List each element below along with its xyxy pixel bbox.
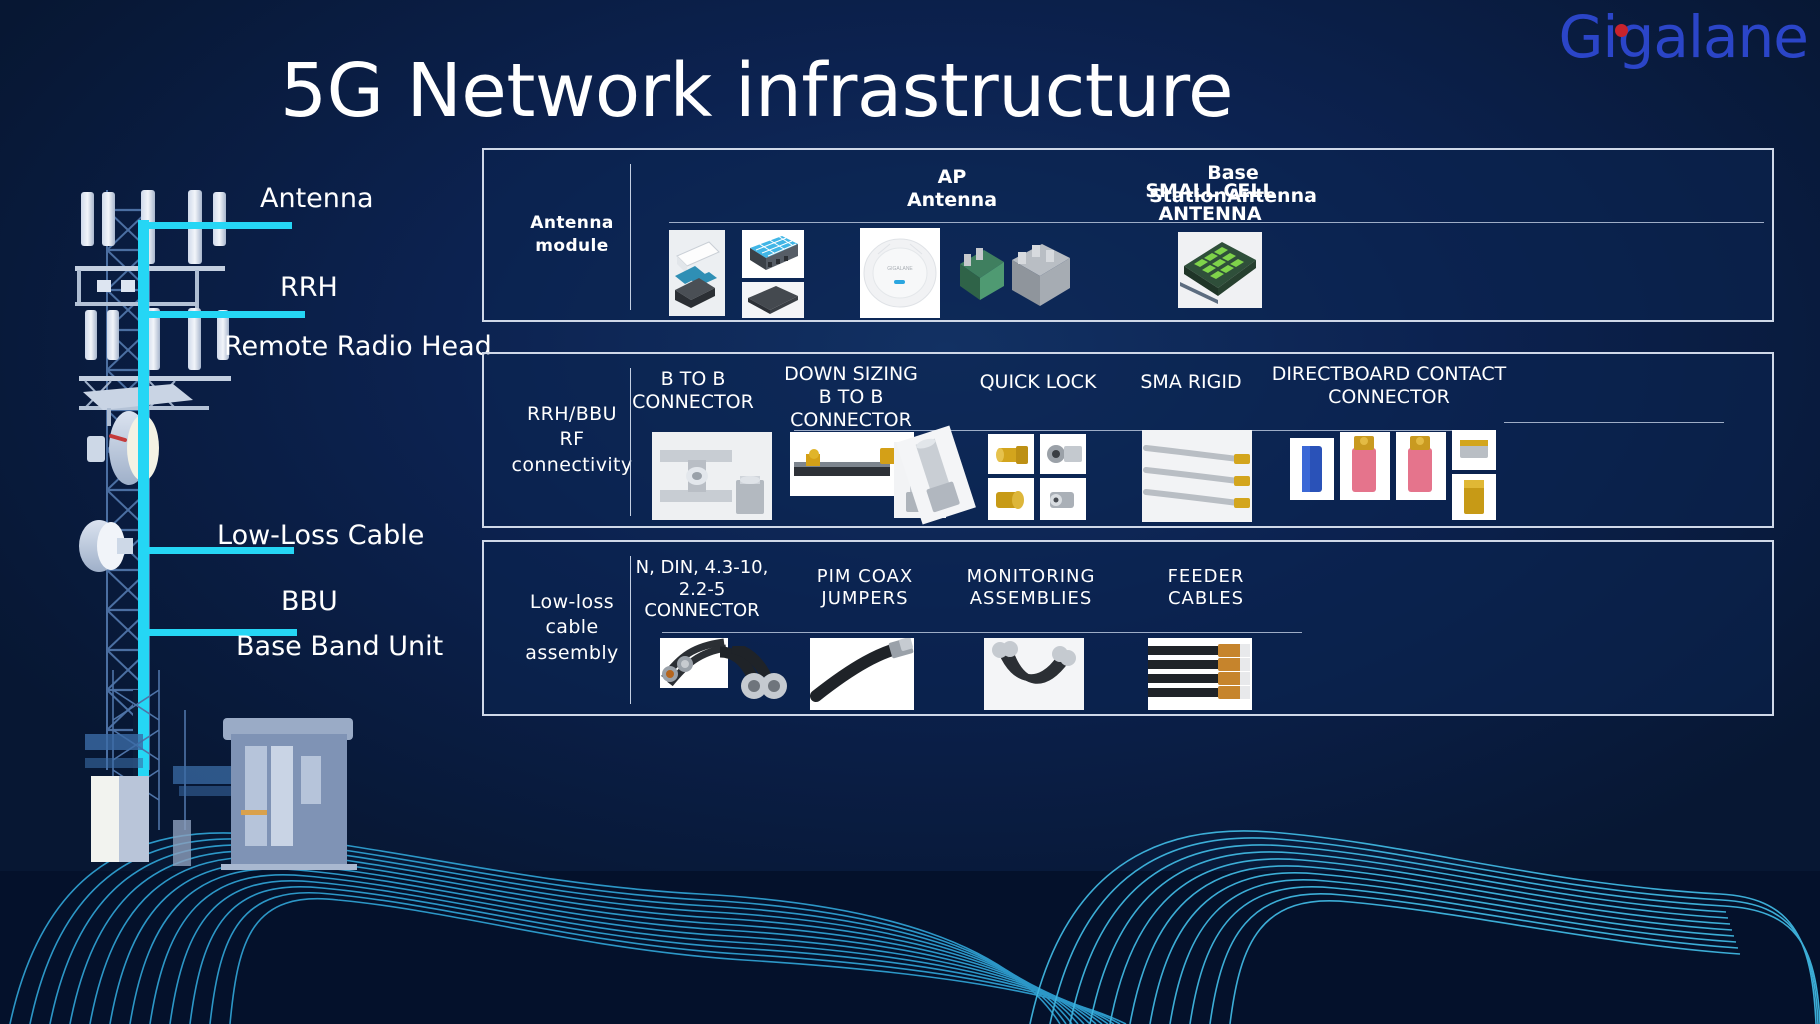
column-head-directboard-contact-connector: DIRECTBOARD CONTACT CONNECTOR (1269, 363, 1509, 409)
product-photo-base-station-antenna (1178, 232, 1262, 308)
svg-text:GIGALANE: GIGALANE (887, 266, 913, 272)
diagram-label-low-loss-cable: Low-Loss Cable (217, 520, 424, 551)
product-photo-directboard-3 (1396, 432, 1446, 500)
panel-header-underline (662, 632, 1302, 633)
product-photo-n-din-connector-2 (718, 646, 790, 708)
product-photo-small-cell-antenna-3 (742, 282, 804, 318)
slide-canvas: Gigalane 5G Network infrastructure (0, 0, 1820, 1024)
column-head-b-to-b-connector: B TO B CONNECTOR (613, 368, 773, 414)
product-photo-directboard-2 (1340, 432, 1390, 500)
panel-rrh-bbu-rf-connectivity: RRH/BBU RF connectivity B TO B CONNECTOR… (482, 352, 1774, 528)
column-head-n-din-connector: N, DIN, 4.3-10, 2.2-5 CONNECTOR (622, 557, 782, 622)
diagram-label-base-band-unit: Base Band Unit (236, 631, 443, 662)
product-photo-small-cell-antenna-2 (742, 230, 804, 278)
product-photo-directboard-5 (1452, 474, 1496, 520)
product-photo-pim-coax-jumpers (810, 638, 914, 710)
product-photo-directboard-4 (1452, 430, 1496, 470)
panel-category-antenna-module: Antenna module (492, 150, 652, 320)
panel-low-loss-cable-assembly: Low-loss cable assembly N, DIN, 4.3-10, … (482, 540, 1774, 716)
brand-logo-text: Gigalane (1558, 3, 1808, 71)
column-head-monitoring-assemblies: MONITORING ASSEMBLIES (941, 566, 1121, 609)
product-photo-quick-lock-2 (1040, 434, 1086, 474)
product-photo-quick-lock-4 (1040, 478, 1086, 520)
leader-line-antenna (146, 222, 292, 229)
column-head-sma-rigid: SMA RIGID (1111, 371, 1271, 394)
diagram-label-remote-radio-head: Remote Radio Head (224, 331, 492, 362)
panel-divider-vertical (630, 164, 631, 310)
product-photo-sma-rigid (1142, 430, 1252, 522)
column-head-pim-coax-jumpers: PIM COAX JUMPERS (785, 566, 945, 609)
product-photo-ap-antenna-parts (950, 234, 1090, 318)
column-head-ap-antenna: AP Antenna (852, 166, 1052, 212)
product-photo-directboard-1 (1290, 438, 1334, 500)
product-photo-b-to-b-connector (652, 432, 772, 520)
diagram-label-bbu: BBU (281, 586, 338, 617)
product-photo-ap-antenna: GIGALANE (860, 228, 940, 318)
product-photo-monitoring-assemblies (984, 638, 1084, 710)
column-head-feeder-cables: FEEDER CABLES (1126, 566, 1286, 609)
page-title: 5G Network infrastructure (280, 48, 1233, 134)
panel-header-underline (669, 222, 1764, 223)
column-head-down-sizing-b-to-b-connector: DOWN SIZING B TO B CONNECTOR (771, 363, 931, 431)
product-photo-quick-lock-3 (988, 478, 1034, 520)
diagram-label-rrh: RRH (280, 272, 338, 303)
diagram-label-antenna: Antenna (260, 183, 374, 214)
column-head-base-station-antenna: Base StationAntenna (1133, 162, 1333, 208)
leader-line-rrh (143, 311, 305, 318)
brand-logo: Gigalane (1558, 8, 1808, 66)
column-head-quick-lock: QUICK LOCK (958, 371, 1118, 394)
panel-header-underline-right (1504, 422, 1724, 423)
product-photo-feeder-cables (1148, 638, 1252, 710)
product-photo-quick-lock-1 (988, 434, 1034, 474)
product-photo-small-cell-antenna-1 (669, 230, 725, 316)
panel-antenna-module: Antenna module SMALL CELL ANTENNA AP Ant… (482, 148, 1774, 322)
